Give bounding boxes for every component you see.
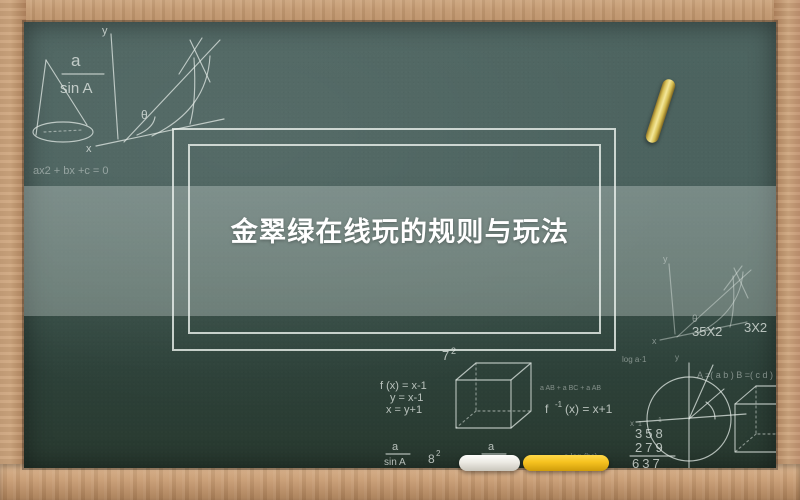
svg-text:y: y bbox=[102, 25, 108, 37]
chalk-stick-yellow bbox=[523, 455, 609, 471]
frame-top-rail bbox=[0, 0, 800, 24]
chalk-text-inverse-fn: f bbox=[545, 402, 549, 416]
chalk-text-fx-3: x = y+1 bbox=[386, 404, 422, 416]
svg-text:358: 358 bbox=[635, 426, 666, 441]
svg-text:a: a bbox=[392, 441, 399, 453]
svg-text:x: x bbox=[652, 336, 657, 346]
svg-text:-1: -1 bbox=[555, 400, 563, 409]
chalk-text-a-numerator: a bbox=[71, 51, 81, 70]
svg-text:637: 637 bbox=[632, 456, 663, 468]
svg-text:a: a bbox=[488, 441, 495, 453]
svg-text:y: y bbox=[675, 353, 679, 362]
title-container: 金翠绿在线玩的规则与玩法 bbox=[0, 164, 800, 294]
page-title: 金翠绿在线玩的规则与玩法 bbox=[231, 210, 569, 249]
frame-bottom-ledge bbox=[0, 464, 800, 500]
svg-text:(x) = x+1: (x) = x+1 bbox=[565, 402, 613, 416]
chalk-cube-left bbox=[456, 363, 531, 428]
svg-text:x: x bbox=[630, 419, 634, 428]
chalk-text-tiny-note: a AB + a BC + a AB bbox=[540, 385, 601, 392]
chalk-cone-drawing bbox=[33, 60, 93, 142]
chalk-stick-white bbox=[459, 455, 520, 471]
svg-text:θ: θ bbox=[141, 108, 148, 122]
chalk-text-matrix-row: A =( a b ) B =( c d ) I =( 1 0 ) bbox=[697, 370, 776, 380]
chalk-cube-right bbox=[735, 386, 776, 452]
svg-text:x: x bbox=[86, 143, 92, 155]
svg-text:8: 8 bbox=[428, 452, 435, 466]
chalk-text-sin-a: sin A bbox=[60, 80, 93, 97]
svg-text:279: 279 bbox=[635, 440, 666, 455]
chalk-text-3x2: 3X2 bbox=[744, 320, 767, 335]
chalk-text-loga: log a·1 bbox=[622, 355, 647, 364]
screenshot-root: a sin A y x θ ax2 + bx +c = 0 y bbox=[0, 0, 800, 500]
svg-text:sin A: sin A bbox=[384, 457, 406, 468]
chalk-text-35x2: 35X2 bbox=[692, 324, 722, 339]
chalk-text-fx-2: y = x-1 bbox=[390, 392, 423, 404]
chalk-text-fx-1: f (x) = x-1 bbox=[380, 380, 427, 392]
chalk-subtraction: 1 1 358 279 637 bbox=[630, 417, 675, 468]
svg-text:2: 2 bbox=[436, 449, 441, 458]
